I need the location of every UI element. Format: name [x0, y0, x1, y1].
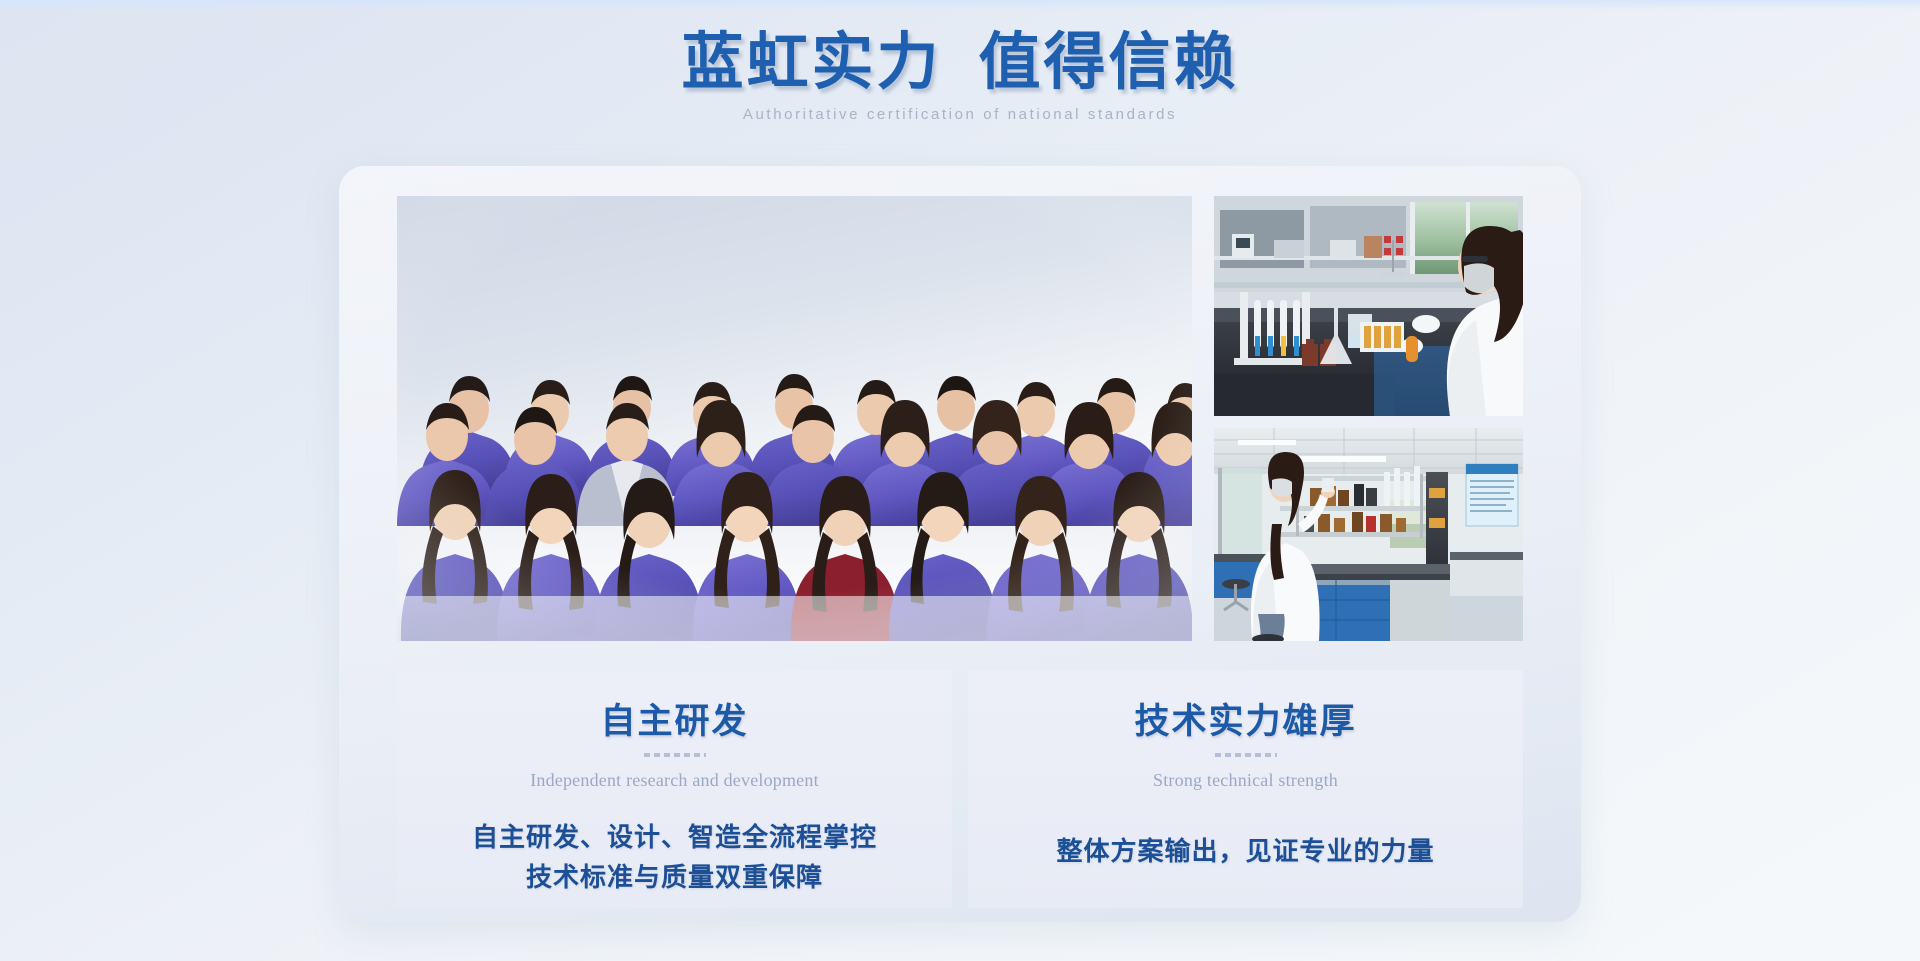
feature-card-technical-strength: 技术实力雄厚 Strong technical strength 整体方案输出，… [968, 670, 1523, 908]
content-panel: 自主研发 Independent research and developmen… [339, 166, 1581, 922]
page-subtitle: Authoritative certification of national … [0, 106, 1920, 123]
card-title: 自主研发 [421, 700, 928, 744]
card-english-subtitle: Strong technical strength [992, 768, 1499, 792]
laboratory-interior-photo [1214, 428, 1523, 641]
page-title: 蓝虹实力 值得信赖 [0, 24, 1920, 102]
dotted-divider [1215, 753, 1277, 757]
top-sheen-decoration [0, 0, 1920, 10]
media-gallery [397, 196, 1523, 641]
promo-page: 蓝虹实力 值得信赖 Authoritative certification of… [0, 0, 1920, 961]
card-title: 技术实力雄厚 [992, 700, 1499, 744]
company-team-group-photo [397, 196, 1192, 641]
feature-card-independent-rd: 自主研发 Independent research and developmen… [397, 670, 952, 908]
card-english-subtitle: Independent research and development [421, 768, 928, 792]
lab-technician-illustration [1214, 196, 1523, 416]
group-photo-illustration [397, 196, 1192, 641]
card-description: 整体方案输出，见证专业的力量 [992, 832, 1499, 872]
laboratory-technician-photo [1214, 196, 1523, 416]
card-description: 自主研发、设计、智造全流程掌控 技术标准与质量双重保障 [421, 818, 928, 898]
feature-cards: 自主研发 Independent research and developmen… [397, 670, 1523, 908]
lab-interior-illustration [1214, 428, 1523, 641]
dotted-divider [644, 753, 706, 757]
page-header: 蓝虹实力 值得信赖 Authoritative certification of… [0, 24, 1920, 123]
